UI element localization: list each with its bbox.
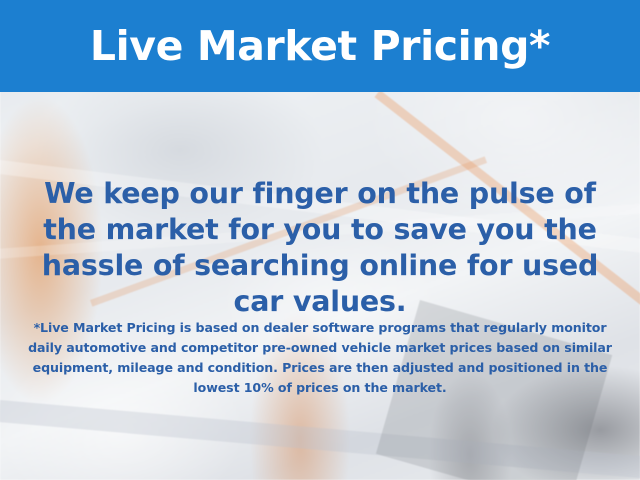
live-market-pricing-slide: Live Market Pricing* We keep our finger … bbox=[0, 0, 640, 480]
page-title: Live Market Pricing* bbox=[0, 0, 640, 92]
headline-text: We keep our finger on the pulse of the m… bbox=[24, 176, 616, 320]
disclaimer-text: *Live Market Pricing is based on dealer … bbox=[24, 318, 616, 398]
